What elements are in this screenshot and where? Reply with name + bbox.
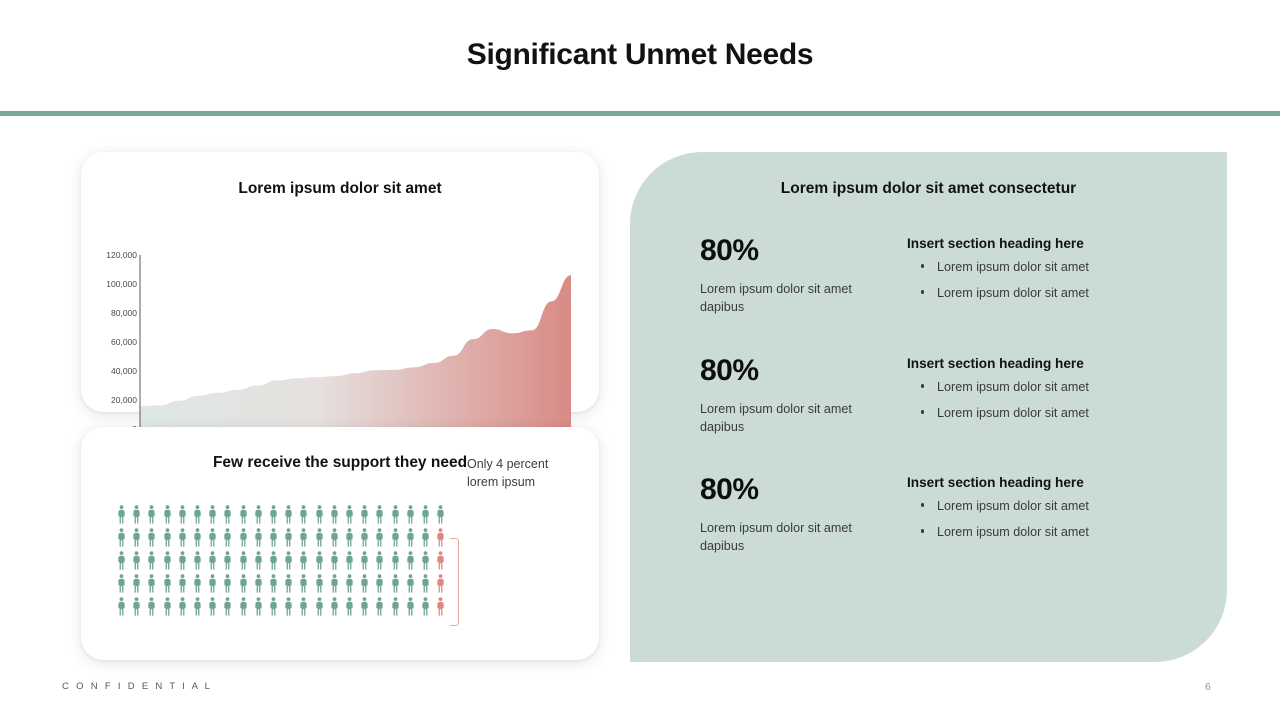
person-glyph <box>299 597 308 616</box>
person-glyph <box>284 505 293 524</box>
person-icon <box>406 597 415 616</box>
person-icon-highlighted <box>436 574 445 593</box>
person-glyph <box>193 528 202 547</box>
area-chart-card: Lorem ipsum dolor sit amet 120,000100,00… <box>81 152 599 412</box>
person-glyph <box>163 505 172 524</box>
person-icon <box>330 597 339 616</box>
person-icon <box>132 597 141 616</box>
person-glyph <box>284 574 293 593</box>
person-icon <box>315 574 324 593</box>
person-icon <box>239 528 248 547</box>
person-glyph <box>436 505 445 524</box>
stat-heading: Insert section heading here <box>907 356 1207 372</box>
person-glyph <box>284 551 293 570</box>
pictogram-bracket <box>450 538 459 626</box>
person-icon <box>269 528 278 547</box>
person-icon <box>239 597 248 616</box>
person-glyph <box>193 597 202 616</box>
person-glyph <box>299 528 308 547</box>
person-icon <box>421 528 430 547</box>
stat-heading: Insert section heading here <box>907 236 1207 252</box>
person-icon <box>208 528 217 547</box>
chart-area-fill <box>140 275 571 429</box>
person-icon <box>375 574 384 593</box>
person-icon <box>163 551 172 570</box>
person-icon <box>117 574 126 593</box>
person-glyph <box>223 597 232 616</box>
person-icon <box>193 574 202 593</box>
person-icon <box>132 505 141 524</box>
person-icon <box>330 528 339 547</box>
person-icon <box>193 597 202 616</box>
page-number: 6 <box>1205 681 1211 693</box>
person-glyph <box>254 505 263 524</box>
person-glyph <box>330 528 339 547</box>
person-icon <box>178 505 187 524</box>
bullet-dot-icon <box>921 503 924 506</box>
person-icon <box>193 505 202 524</box>
person-glyph <box>406 597 415 616</box>
person-icon <box>269 505 278 524</box>
person-icon <box>299 551 308 570</box>
person-glyph <box>391 597 400 616</box>
person-icon <box>315 505 324 524</box>
person-glyph <box>223 574 232 593</box>
person-icon <box>330 551 339 570</box>
person-glyph <box>406 505 415 524</box>
person-icon <box>269 574 278 593</box>
person-icon <box>254 574 263 593</box>
person-glyph <box>223 528 232 547</box>
person-icon <box>299 505 308 524</box>
person-glyph <box>299 551 308 570</box>
person-glyph <box>436 528 445 547</box>
person-glyph <box>345 551 354 570</box>
person-icon <box>299 574 308 593</box>
person-glyph <box>254 551 263 570</box>
person-icon <box>132 574 141 593</box>
person-icon <box>208 505 217 524</box>
person-icon <box>117 551 126 570</box>
person-icon <box>284 528 293 547</box>
person-icon <box>132 528 141 547</box>
stat-percentage: 80% <box>700 356 870 386</box>
person-glyph <box>208 528 217 547</box>
person-glyph <box>147 505 156 524</box>
stat-summary: 80%Lorem ipsum dolor sit amet dapibus <box>700 356 870 437</box>
person-icon <box>284 574 293 593</box>
person-glyph <box>345 528 354 547</box>
info-panel-title: Lorem ipsum dolor sit amet consectetur <box>630 180 1227 198</box>
person-icon <box>360 505 369 524</box>
person-glyph <box>269 528 278 547</box>
person-icon <box>223 505 232 524</box>
person-glyph <box>345 597 354 616</box>
bullet-dot-icon <box>921 529 924 532</box>
person-icon <box>391 597 400 616</box>
person-icon <box>375 551 384 570</box>
person-glyph <box>132 528 141 547</box>
person-icon <box>299 528 308 547</box>
person-icon <box>163 528 172 547</box>
person-glyph <box>269 505 278 524</box>
person-icon <box>284 551 293 570</box>
person-glyph <box>147 574 156 593</box>
stat-summary: 80%Lorem ipsum dolor sit amet dapibus <box>700 475 870 556</box>
person-glyph <box>360 528 369 547</box>
person-icon <box>178 551 187 570</box>
person-glyph <box>315 528 324 547</box>
person-icon <box>178 574 187 593</box>
person-glyph <box>360 574 369 593</box>
person-icon <box>117 505 126 524</box>
person-icon <box>330 574 339 593</box>
person-icon <box>315 528 324 547</box>
person-glyph <box>315 574 324 593</box>
person-glyph <box>117 505 126 524</box>
person-glyph <box>315 597 324 616</box>
person-glyph <box>436 551 445 570</box>
person-glyph <box>375 551 384 570</box>
header-divider <box>0 111 1280 116</box>
person-icon <box>163 597 172 616</box>
person-glyph <box>436 597 445 616</box>
chart-plot <box>81 204 599 454</box>
person-glyph <box>223 551 232 570</box>
person-icon <box>360 574 369 593</box>
person-glyph <box>254 574 263 593</box>
person-glyph <box>163 574 172 593</box>
person-icon-highlighted <box>436 597 445 616</box>
stat-bullet-item: Lorem ipsum dolor sit amet <box>907 405 1207 422</box>
person-icon <box>330 505 339 524</box>
person-icon <box>345 574 354 593</box>
person-icon <box>406 505 415 524</box>
person-icon <box>375 505 384 524</box>
pictogram-note-line2: lorem ipsum <box>467 474 597 492</box>
person-icon <box>239 551 248 570</box>
person-icon <box>193 528 202 547</box>
person-glyph <box>147 551 156 570</box>
person-icon <box>254 505 263 524</box>
person-glyph <box>254 597 263 616</box>
person-icon <box>345 505 354 524</box>
person-icon <box>406 574 415 593</box>
person-icon <box>391 528 400 547</box>
person-glyph <box>360 505 369 524</box>
person-icon-highlighted <box>436 551 445 570</box>
stat-details: Insert section heading hereLorem ipsum d… <box>907 236 1207 311</box>
person-glyph <box>391 505 400 524</box>
person-icon <box>208 574 217 593</box>
stat-bullet-item: Lorem ipsum dolor sit amet <box>907 379 1207 396</box>
person-glyph <box>315 551 324 570</box>
person-icon <box>375 597 384 616</box>
person-icon <box>147 528 156 547</box>
person-glyph <box>178 551 187 570</box>
stat-heading: Insert section heading here <box>907 475 1207 491</box>
person-glyph <box>132 574 141 593</box>
person-icon <box>299 597 308 616</box>
person-glyph <box>178 597 187 616</box>
person-icon <box>315 597 324 616</box>
stat-details: Insert section heading hereLorem ipsum d… <box>907 475 1207 550</box>
person-icon <box>147 551 156 570</box>
stat-description: Lorem ipsum dolor sit amet dapibus <box>700 519 870 556</box>
person-icon <box>147 597 156 616</box>
person-icon <box>315 551 324 570</box>
bullet-dot-icon <box>921 384 924 387</box>
person-glyph <box>406 528 415 547</box>
person-glyph <box>208 597 217 616</box>
stat-bullet-item: Lorem ipsum dolor sit amet <box>907 498 1207 515</box>
person-icon <box>147 574 156 593</box>
person-glyph <box>345 574 354 593</box>
person-glyph <box>406 551 415 570</box>
chart-title: Lorem ipsum dolor sit amet <box>81 180 599 198</box>
person-icon <box>391 574 400 593</box>
person-icon <box>132 551 141 570</box>
person-glyph <box>406 574 415 593</box>
person-glyph <box>391 574 400 593</box>
person-icon-highlighted <box>436 528 445 547</box>
person-glyph <box>147 528 156 547</box>
person-glyph <box>239 505 248 524</box>
person-glyph <box>239 597 248 616</box>
person-glyph <box>330 551 339 570</box>
stat-bullet-list: Lorem ipsum dolor sit ametLorem ipsum do… <box>907 498 1207 541</box>
person-icon <box>223 574 232 593</box>
person-glyph <box>345 505 354 524</box>
person-icon <box>284 597 293 616</box>
person-icon <box>406 528 415 547</box>
person-glyph <box>421 505 430 524</box>
person-glyph <box>132 551 141 570</box>
person-icon <box>345 551 354 570</box>
person-glyph <box>436 574 445 593</box>
person-icon <box>269 597 278 616</box>
person-glyph <box>178 574 187 593</box>
person-glyph <box>117 597 126 616</box>
person-glyph <box>284 528 293 547</box>
confidential-label: C O N F I D E N T I A L <box>62 681 212 692</box>
person-icon <box>239 574 248 593</box>
person-glyph <box>239 574 248 593</box>
person-glyph <box>375 597 384 616</box>
person-glyph <box>239 528 248 547</box>
person-glyph <box>132 597 141 616</box>
person-glyph <box>117 551 126 570</box>
person-glyph <box>375 574 384 593</box>
person-glyph <box>208 551 217 570</box>
person-glyph <box>193 551 202 570</box>
person-icon <box>254 551 263 570</box>
stat-description: Lorem ipsum dolor sit amet dapibus <box>700 280 870 317</box>
person-icon <box>345 597 354 616</box>
person-icon <box>223 551 232 570</box>
person-glyph <box>421 551 430 570</box>
person-icon <box>406 551 415 570</box>
person-icon <box>208 551 217 570</box>
stat-bullet-list: Lorem ipsum dolor sit ametLorem ipsum do… <box>907 259 1207 302</box>
person-icon <box>254 597 263 616</box>
person-glyph <box>360 551 369 570</box>
person-glyph <box>391 528 400 547</box>
person-glyph <box>421 597 430 616</box>
person-glyph <box>269 551 278 570</box>
person-glyph <box>163 528 172 547</box>
person-icon <box>178 528 187 547</box>
person-icon <box>178 597 187 616</box>
person-icon <box>360 551 369 570</box>
person-glyph <box>193 505 202 524</box>
person-glyph <box>269 574 278 593</box>
person-icon <box>223 528 232 547</box>
person-icon <box>421 597 430 616</box>
pictogram-note: Only 4 percent lorem ipsum <box>467 456 597 492</box>
person-icon <box>375 528 384 547</box>
bullet-dot-icon <box>921 264 924 267</box>
person-glyph <box>421 528 430 547</box>
person-glyph <box>208 505 217 524</box>
person-icon <box>421 574 430 593</box>
person-glyph <box>147 597 156 616</box>
stat-summary: 80%Lorem ipsum dolor sit amet dapibus <box>700 236 870 317</box>
person-glyph <box>163 597 172 616</box>
person-icon <box>193 551 202 570</box>
stat-description: Lorem ipsum dolor sit amet dapibus <box>700 400 870 437</box>
stat-bullet-list: Lorem ipsum dolor sit ametLorem ipsum do… <box>907 379 1207 422</box>
pictogram-card: Few receive the support they need Only 4… <box>81 427 599 660</box>
person-icon <box>208 597 217 616</box>
pictogram-note-line1: Only 4 percent <box>467 456 597 474</box>
person-glyph <box>299 574 308 593</box>
person-glyph <box>117 574 126 593</box>
person-glyph <box>117 528 126 547</box>
area-chart: 120,000100,00080,00060,00040,00020,0000 … <box>81 204 599 404</box>
stat-bullet-item: Lorem ipsum dolor sit amet <box>907 524 1207 541</box>
person-icon <box>117 597 126 616</box>
person-icon <box>391 505 400 524</box>
person-icon <box>284 505 293 524</box>
stat-bullet-item: Lorem ipsum dolor sit amet <box>907 259 1207 276</box>
slide-root: Significant Unmet Needs Lorem ipsum dolo… <box>0 0 1280 720</box>
bullet-dot-icon <box>921 410 924 413</box>
stat-details: Insert section heading hereLorem ipsum d… <box>907 356 1207 431</box>
person-icon <box>239 505 248 524</box>
person-glyph <box>163 551 172 570</box>
stat-percentage: 80% <box>700 475 870 505</box>
person-icon <box>269 551 278 570</box>
person-glyph <box>330 505 339 524</box>
person-icon <box>163 505 172 524</box>
person-icon <box>254 528 263 547</box>
person-glyph <box>330 597 339 616</box>
person-glyph <box>178 528 187 547</box>
page-title: Significant Unmet Needs <box>0 38 1280 72</box>
person-icon <box>421 505 430 524</box>
person-glyph <box>193 574 202 593</box>
person-glyph <box>299 505 308 524</box>
person-icon <box>421 551 430 570</box>
person-glyph <box>269 597 278 616</box>
person-icon <box>360 597 369 616</box>
person-glyph <box>391 551 400 570</box>
person-glyph <box>330 574 339 593</box>
stat-bullet-item: Lorem ipsum dolor sit amet <box>907 285 1207 302</box>
person-glyph <box>208 574 217 593</box>
person-icon <box>436 505 445 524</box>
person-icon <box>391 551 400 570</box>
person-glyph <box>421 574 430 593</box>
person-icon <box>163 574 172 593</box>
person-icon <box>360 528 369 547</box>
person-glyph <box>315 505 324 524</box>
person-icon <box>345 528 354 547</box>
person-glyph <box>375 528 384 547</box>
person-glyph <box>239 551 248 570</box>
person-icon <box>147 505 156 524</box>
person-glyph <box>132 505 141 524</box>
person-glyph <box>254 528 263 547</box>
person-icon <box>223 597 232 616</box>
info-panel: Lorem ipsum dolor sit amet consectetur 8… <box>630 152 1227 662</box>
stat-percentage: 80% <box>700 236 870 266</box>
person-glyph <box>284 597 293 616</box>
person-glyph <box>375 505 384 524</box>
person-glyph <box>360 597 369 616</box>
person-icon <box>117 528 126 547</box>
person-glyph <box>178 505 187 524</box>
person-glyph <box>223 505 232 524</box>
bullet-dot-icon <box>921 290 924 293</box>
